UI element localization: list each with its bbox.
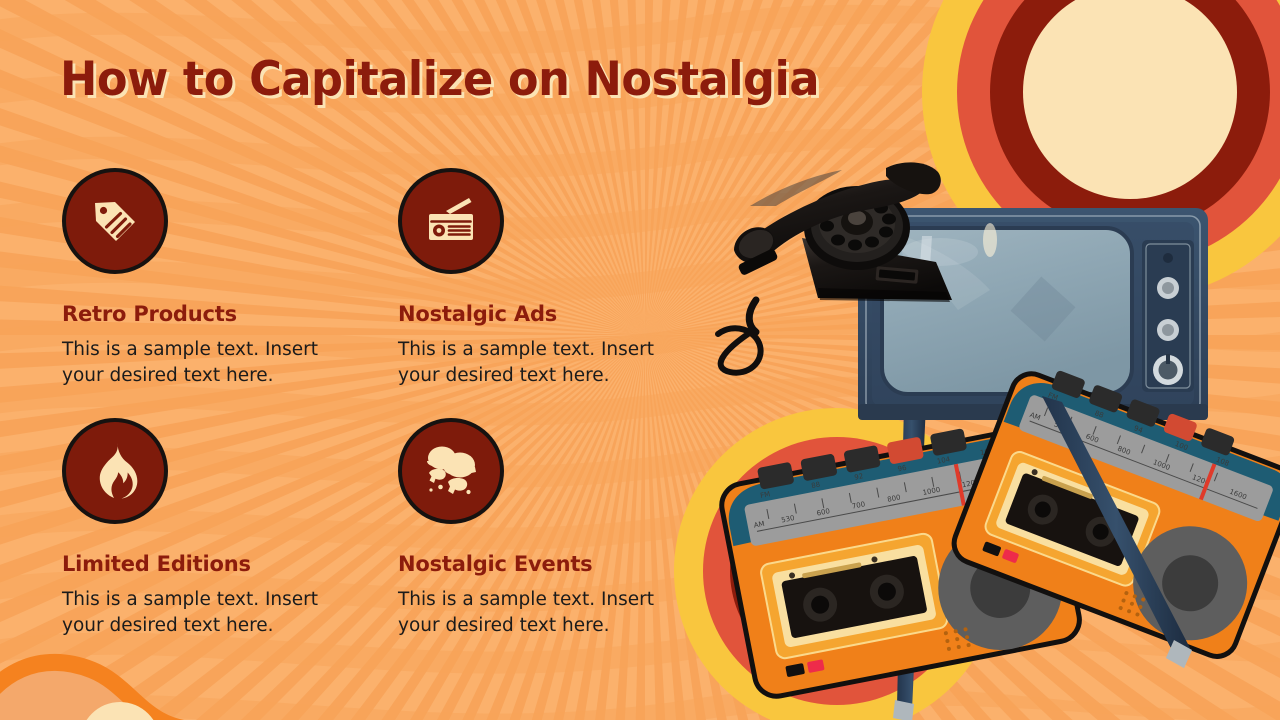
radio-glyph — [422, 194, 480, 248]
slide-canvas: How to Capitalize on Nostalgia Retro — [0, 0, 1280, 720]
feature-title: Nostalgic Events — [398, 553, 698, 576]
feature-title: Nostalgic Ads — [398, 303, 698, 326]
price-tag-icon[interactable] — [62, 168, 168, 274]
feature-item-limited-editions[interactable]: Limited Editions This is a sample text. … — [62, 418, 362, 638]
feature-title: Retro Products — [62, 303, 362, 326]
radio-icon[interactable] — [398, 168, 504, 274]
collage-artwork: SHARP — [690, 0, 1280, 720]
retro-imagery-collage: SHARP — [690, 0, 1280, 720]
feature-title: Limited Editions — [62, 553, 362, 576]
flame-glyph — [92, 442, 138, 500]
svg-text:88: 88 — [811, 481, 821, 491]
feature-body: This is a sample text. Insert your desir… — [398, 587, 666, 638]
flame-icon[interactable] — [62, 418, 168, 524]
feature-body: This is a sample text. Insert your desir… — [62, 587, 330, 638]
svg-text:92: 92 — [854, 472, 864, 482]
price-tag-glyph — [87, 193, 143, 249]
two-people-with-caps-icon[interactable] — [398, 418, 504, 524]
feature-item-nostalgic-ads[interactable]: Nostalgic Ads This is a sample text. Ins… — [398, 168, 698, 388]
two-people-with-caps-glyph — [421, 443, 481, 499]
feature-body: This is a sample text. Insert your desir… — [398, 337, 666, 388]
feature-item-nostalgic-events[interactable]: Nostalgic Events This is a sample text. … — [398, 418, 698, 638]
feature-body: This is a sample text. Insert your desir… — [62, 337, 330, 388]
feature-item-retro-products[interactable]: Retro Products This is a sample text. In… — [62, 168, 362, 388]
